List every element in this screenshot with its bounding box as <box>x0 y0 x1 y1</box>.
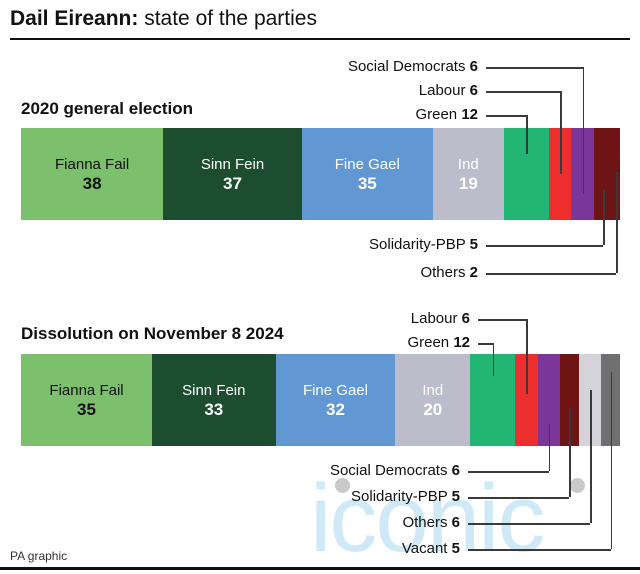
bar-segment-value: 38 <box>83 174 102 193</box>
callout-value: 12 <box>461 106 478 123</box>
callout-label-solidarity-pbp: Solidarity-PBP 5 <box>369 236 478 253</box>
callout-label-others: Others 6 <box>402 514 460 531</box>
leader-horizontal <box>478 343 493 345</box>
callout-label-labour: Labour 6 <box>419 82 478 99</box>
leader-horizontal <box>468 523 590 525</box>
callout-value: 6 <box>452 514 460 531</box>
bar-segment-name: Fianna Fail <box>49 382 123 400</box>
stacked-bar: Fianna Fail38Sinn Fein37Fine Gael35Ind19 <box>21 128 620 220</box>
bar-segment-solidarity-pbp <box>560 354 579 446</box>
callout-name: Others <box>402 514 451 531</box>
stacked-bar: Fianna Fail35Sinn Fein33Fine Gael32Ind20 <box>21 354 620 446</box>
bar-segment-name: Sinn Fein <box>182 382 245 400</box>
callout-name: Labour <box>419 82 470 99</box>
bar-segment-name: Sinn Fein <box>201 156 264 174</box>
header-divider <box>10 38 630 40</box>
bar-segment-name: Ind <box>458 156 479 174</box>
leader-horizontal <box>478 319 526 321</box>
bar-segment-fine-gael: Fine Gael35 <box>302 128 433 220</box>
page-title-bold: Dail Eireann: <box>10 7 138 30</box>
callout-value: 6 <box>452 462 460 479</box>
watermark-dot <box>570 478 585 493</box>
bar-segment-name: Fianna Fail <box>55 156 129 174</box>
callout-value: 12 <box>453 334 470 351</box>
bar-segment-ind: Ind20 <box>395 354 470 446</box>
leader-horizontal <box>486 115 526 117</box>
chart-heading: 2020 general election <box>21 99 193 119</box>
callout-name: Green <box>407 334 453 351</box>
bar-segment-value: 35 <box>77 400 96 419</box>
callout-label-social-democrats: Social Democrats 6 <box>348 58 478 75</box>
bar-segment-social-democrats <box>538 354 560 446</box>
bar-segment-solidarity-pbp <box>594 128 613 220</box>
bar-segment-sinn-fein: Sinn Fein33 <box>152 354 276 446</box>
leader-horizontal <box>486 67 583 69</box>
bar-segment-sinn-fein: Sinn Fein37 <box>163 128 302 220</box>
bar-segment-ind: Ind19 <box>433 128 504 220</box>
callout-name: Others <box>420 264 469 281</box>
bar-segment-value: 35 <box>358 174 377 193</box>
bar-segment-green <box>470 354 515 446</box>
callout-name: Solidarity-PBP <box>351 488 452 505</box>
bar-segment-value: 19 <box>459 174 478 193</box>
callout-name: Labour <box>411 310 462 327</box>
bar-segment-fianna-fail: Fianna Fail35 <box>21 354 152 446</box>
callout-label-others: Others 2 <box>420 264 478 281</box>
bar-segment-others <box>579 354 601 446</box>
bar-segment-value: 33 <box>204 400 223 419</box>
callout-name: Solidarity-PBP <box>369 236 470 253</box>
header: Dail Eireann: state of the parties <box>0 0 640 40</box>
bar-segment-value: 37 <box>223 174 242 193</box>
bar-segment-labour <box>549 128 571 220</box>
bar-segment-green <box>504 128 549 220</box>
callout-name: Social Democrats <box>330 462 452 479</box>
callout-value: 5 <box>470 236 478 253</box>
callout-value: 6 <box>470 58 478 75</box>
leader-horizontal <box>468 471 549 473</box>
leader-horizontal <box>486 273 616 275</box>
callout-value: 5 <box>452 488 460 505</box>
callout-value: 6 <box>462 310 470 327</box>
leader-horizontal <box>486 91 560 93</box>
bar-segment-value: 32 <box>326 400 345 419</box>
callout-label-labour: Labour 6 <box>411 310 470 327</box>
bar-segment-name: Ind <box>422 382 443 400</box>
bar-segment-labour <box>515 354 537 446</box>
callout-value: 6 <box>470 82 478 99</box>
credit-line: PA graphic <box>0 549 640 567</box>
leader-horizontal <box>486 245 603 247</box>
bar-segment-fianna-fail: Fianna Fail38 <box>21 128 163 220</box>
page-title-rest: state of the parties <box>138 7 317 30</box>
bar-segment-name: Fine Gael <box>335 156 400 174</box>
chart-heading: Dissolution on November 8 2024 <box>21 324 284 344</box>
bar-segment-social-democrats <box>571 128 593 220</box>
footer: PA graphic <box>0 549 640 570</box>
callout-label-green: Green 12 <box>415 106 478 123</box>
watermark-dot <box>335 478 350 493</box>
callout-label-social-democrats: Social Democrats 6 <box>330 462 460 479</box>
bar-segment-fine-gael: Fine Gael32 <box>276 354 396 446</box>
bar-segment-value: 20 <box>423 400 442 419</box>
bar-segment-others <box>612 128 619 220</box>
bar-segment-name: Fine Gael <box>303 382 368 400</box>
leader-horizontal <box>468 497 569 499</box>
callout-label-green: Green 12 <box>407 334 470 351</box>
callout-value: 2 <box>470 264 478 281</box>
callout-name: Social Democrats <box>348 58 470 75</box>
callout-name: Green <box>415 106 461 123</box>
callout-label-solidarity-pbp: Solidarity-PBP 5 <box>351 488 460 505</box>
bar-segment-vacant <box>601 354 620 446</box>
page-title: Dail Eireann: state of the parties <box>0 0 640 36</box>
